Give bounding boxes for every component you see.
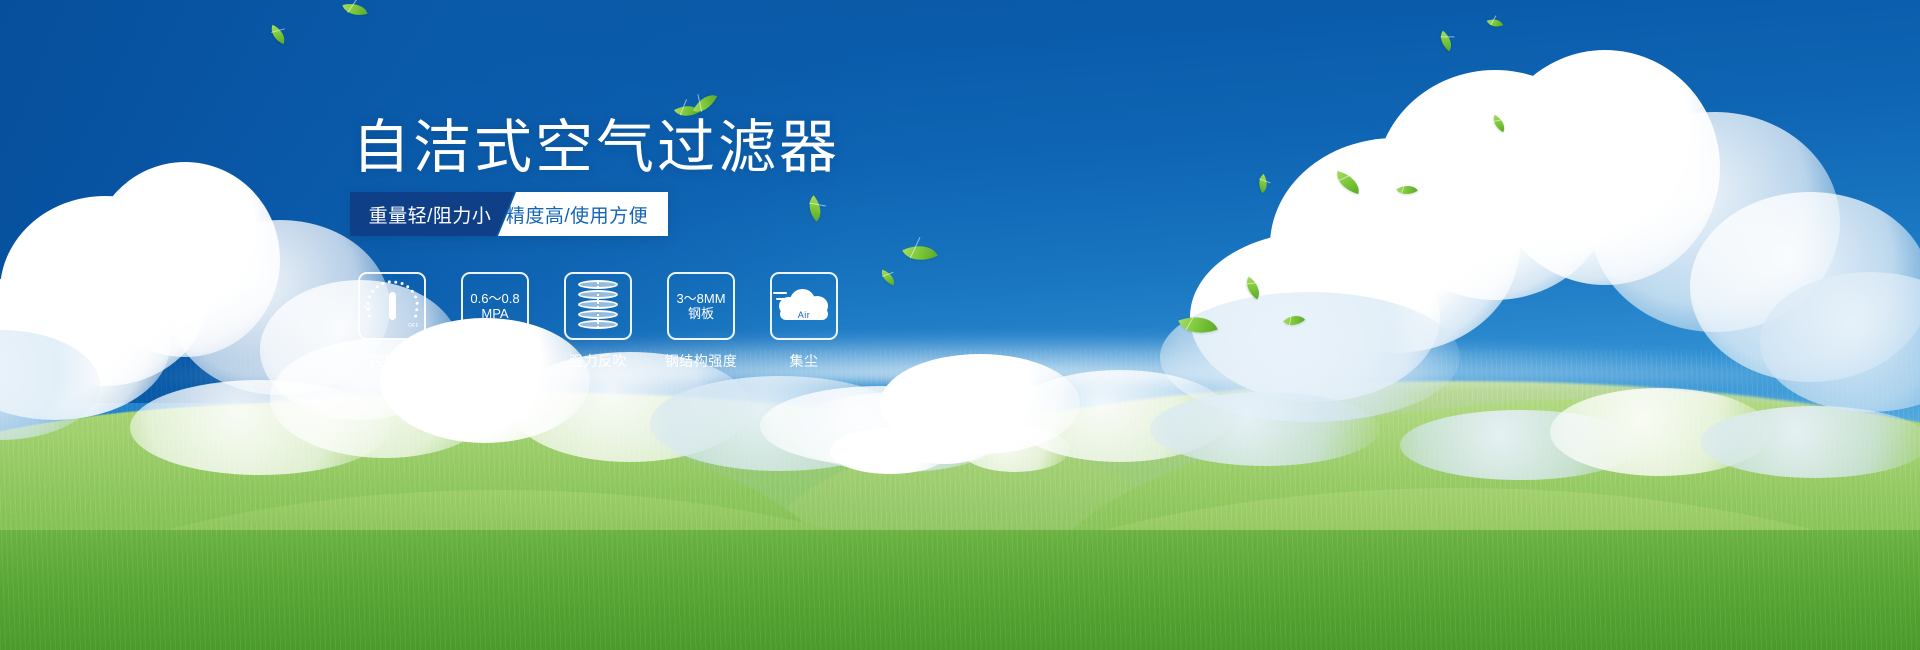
cloud-air-icon: Air — [777, 284, 831, 328]
feature-item-two-stage-filter[interactable]: 0.6～0.8 MPA 二级过滤 — [461, 272, 529, 371]
feature-item-controller[interactable]: NO OFF 控制仪 — [358, 272, 426, 371]
steel-plate-text-icon: 3～8MM 钢板 — [676, 291, 725, 321]
pressure-text-icon: 0.6～0.8 MPA — [470, 291, 519, 321]
feature-label: 钢结构强度 — [665, 351, 738, 371]
pressure-unit: MPA — [470, 306, 519, 321]
feature-icon-box — [564, 272, 632, 340]
feature-item-backflush[interactable]: 强力反吹 — [564, 272, 632, 371]
feature-item-steel-strength[interactable]: 3～8MM 钢板 钢结构强度 — [667, 272, 735, 371]
coil-spring-icon — [578, 280, 618, 332]
page-title: 自洁式空气过滤器 — [352, 116, 840, 180]
feature-icon-box: Air — [770, 272, 838, 340]
feature-label: 强力反吹 — [569, 351, 627, 371]
feature-icon-box: 0.6～0.8 MPA — [461, 272, 529, 340]
pressure-value: 0.6～0.8 — [470, 291, 519, 306]
steel-thickness: 3～8MM — [676, 291, 725, 306]
hero-banner: 自洁式空气过滤器 重量轻/阻力小 精度高/使用方便 — [0, 0, 1920, 650]
feature-label: 集尘 — [790, 351, 819, 371]
steel-plate-word: 钢板 — [676, 306, 725, 321]
gauge-needle — [389, 292, 396, 320]
feature-icon-row: NO OFF 控制仪 0.6～0.8 MPA 二级过滤 — [358, 272, 838, 371]
feature-label: 二级过滤 — [466, 351, 524, 371]
feature-icon-box: 3～8MM 钢板 — [667, 272, 735, 340]
feature-item-dust-collection[interactable]: Air 集尘 — [770, 272, 838, 371]
feature-tab-group: 重量轻/阻力小 精度高/使用方便 — [350, 192, 668, 236]
air-label: Air — [777, 310, 831, 320]
gauge-label-off: OFF — [408, 323, 419, 329]
feature-label: 控制仪 — [370, 351, 414, 371]
tab-weight-resistance[interactable]: 重量轻/阻力小 — [350, 192, 514, 236]
feature-icon-box: NO OFF — [358, 272, 426, 340]
tab-precision-convenience[interactable]: 精度高/使用方便 — [498, 192, 668, 236]
gauge-label-no: NO — [364, 305, 372, 311]
gauge-dial-icon: NO OFF — [365, 279, 419, 333]
